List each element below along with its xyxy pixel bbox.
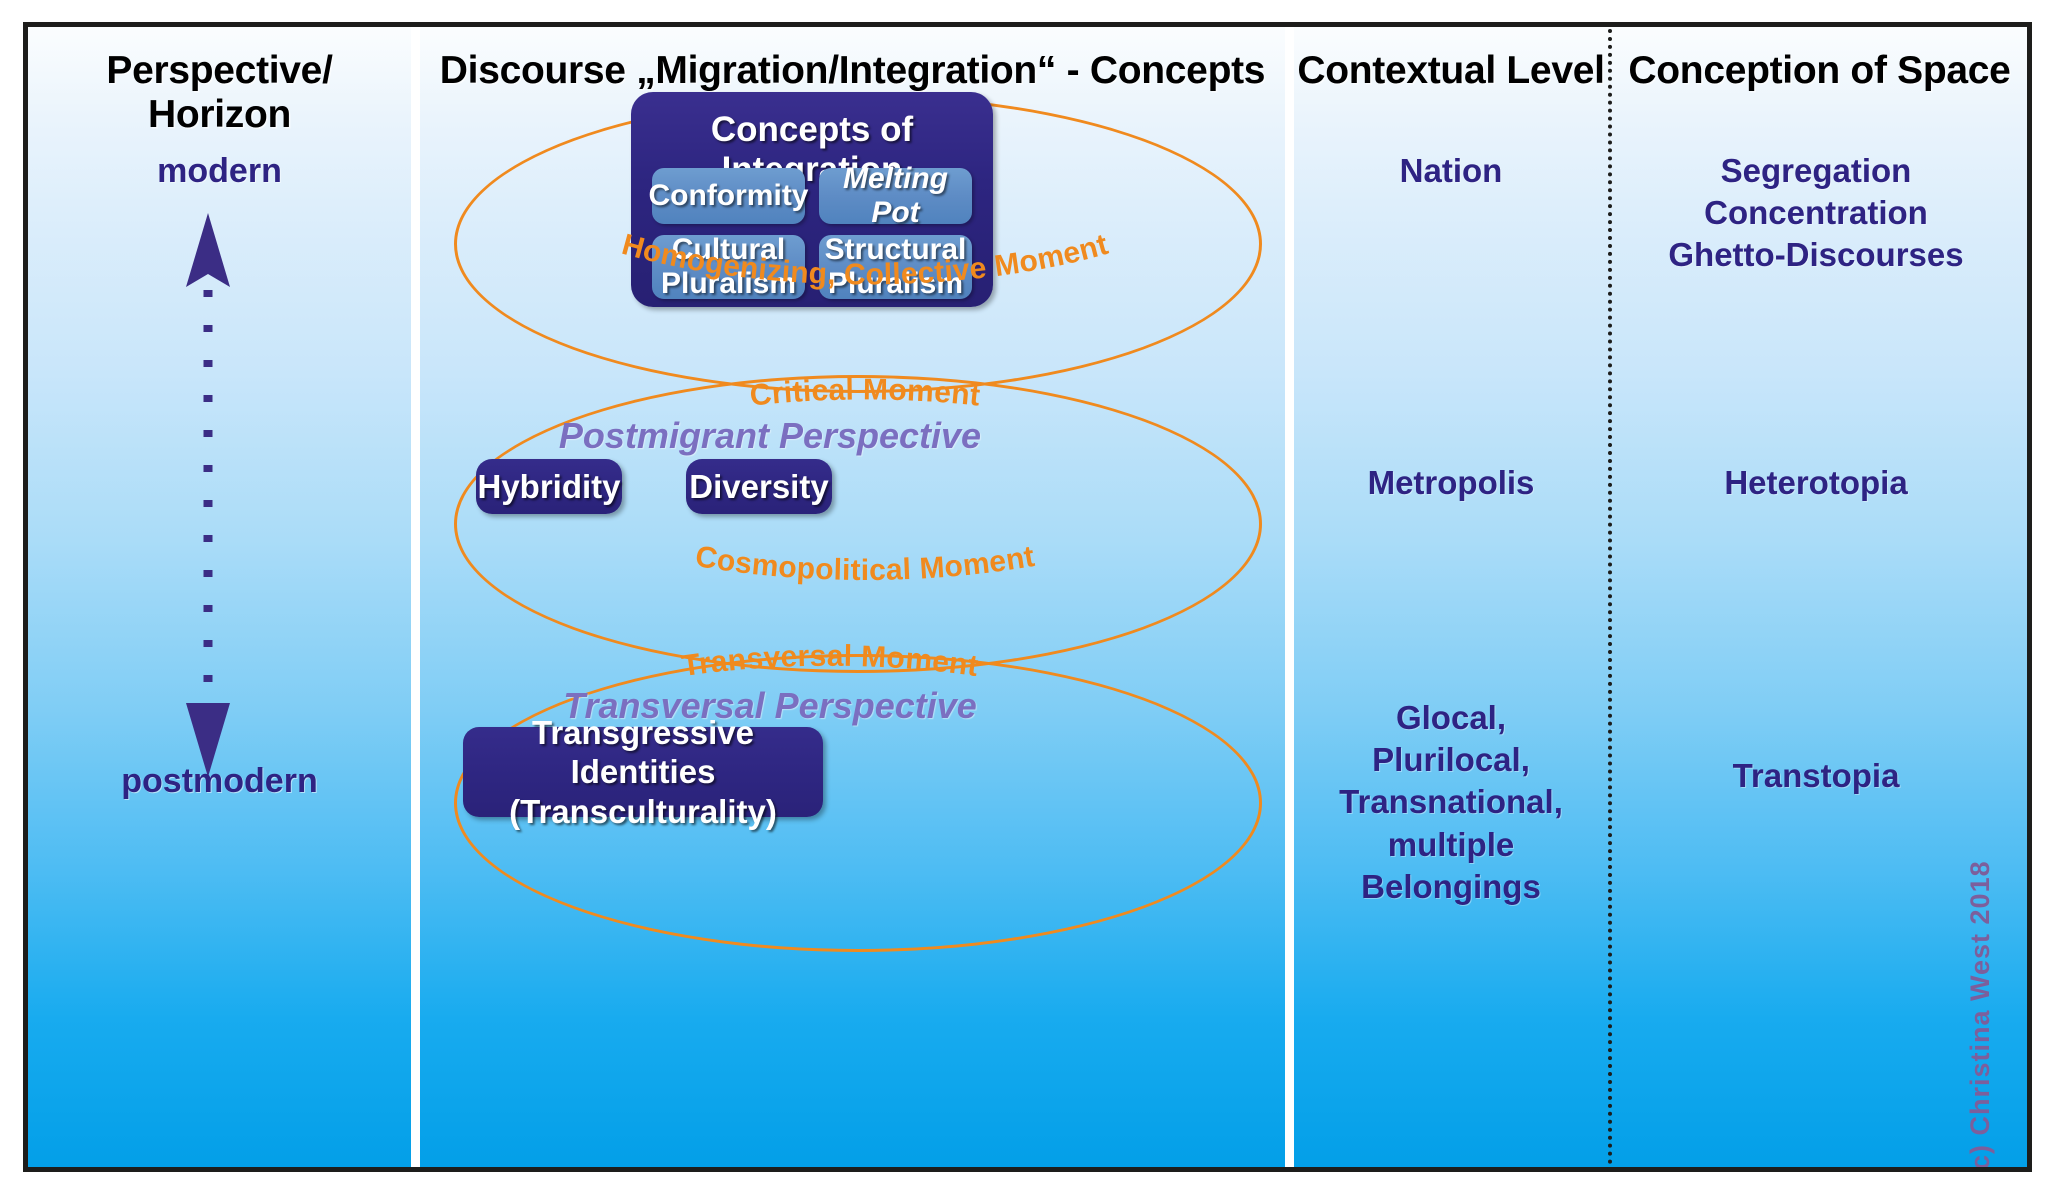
column-header-discourse: Discourse „Migration/Integration“ - Conc… bbox=[420, 49, 1285, 93]
concept-structural-pluralism-line-1: Structural bbox=[825, 233, 967, 267]
copyright-notice: (c) Christina West 2018 bbox=[1965, 860, 1996, 1172]
column-divider-2 bbox=[1285, 27, 1294, 1167]
contextual-level-glocal-line-4: multiple bbox=[1294, 824, 1608, 866]
pill-diversity: Diversity bbox=[686, 459, 832, 514]
concept-structural-pluralism-line-2: Pluralism bbox=[828, 267, 963, 301]
column-header-conception-of-space: Conception of Space bbox=[1612, 49, 2027, 93]
column-header-perspective-horizon: Perspective/ Horizon bbox=[28, 49, 411, 138]
concept-cultural-pluralism-line-2: Pluralism bbox=[661, 267, 796, 301]
concept-melting-pot: Melting Pot bbox=[819, 168, 972, 224]
contextual-level-value-glocal: Glocal, Plurilocal, Transnational, multi… bbox=[1294, 697, 1608, 908]
concept-cultural-pluralism: Cultural Pluralism bbox=[652, 235, 805, 299]
column-divider-1 bbox=[411, 27, 420, 1167]
concepts-of-integration-box: Concepts of Integration Conformity Melti… bbox=[631, 92, 993, 307]
conception-of-space-value-transtopia: Transtopia bbox=[1612, 755, 2020, 797]
arrow-up-head bbox=[186, 213, 230, 287]
conception-of-space-line-1: Segregation bbox=[1612, 150, 2020, 192]
column-header-line-2: Horizon bbox=[28, 93, 411, 137]
contextual-level-glocal-line-5: Belongings bbox=[1294, 866, 1608, 908]
column-header-contextual-level: Contextual Level bbox=[1294, 49, 1608, 93]
pill-hybridity: Hybridity bbox=[476, 459, 622, 514]
conception-of-space-line-2: Concentration bbox=[1612, 192, 2020, 234]
conception-of-space-value-heterotopia: Heterotopia bbox=[1612, 462, 2020, 504]
framed-panel: Perspective/ Horizon Discourse „Migratio… bbox=[23, 22, 2032, 1172]
conception-of-space-line-3: Ghetto-Discourses bbox=[1612, 234, 2020, 276]
contextual-level-value-nation: Nation bbox=[1294, 150, 1608, 192]
diagram-canvas: Perspective/ Horizon Discourse „Migratio… bbox=[0, 0, 2067, 1203]
concept-cultural-pluralism-line-1: Cultural bbox=[672, 233, 785, 267]
axis-label-modern: modern bbox=[28, 152, 411, 191]
axis-label-postmodern: postmodern bbox=[28, 762, 411, 801]
concept-conformity: Conformity bbox=[652, 168, 805, 224]
column-header-line-1: Perspective/ bbox=[28, 49, 411, 93]
pill-transgressive-line-2: (Transculturality) bbox=[509, 792, 777, 832]
contextual-level-glocal-line-2: Plurilocal, bbox=[1294, 739, 1608, 781]
postmigrant-perspective-label: Postmigrant Perspective bbox=[420, 415, 1120, 457]
contextual-level-glocal-line-1: Glocal, bbox=[1294, 697, 1608, 739]
pill-transgressive-line-1: Transgressive Identities bbox=[463, 713, 823, 792]
modern-postmodern-arrow bbox=[28, 27, 411, 1172]
concept-structural-pluralism: Structural Pluralism bbox=[819, 235, 972, 299]
pill-transgressive-identities: Transgressive Identities (Transculturali… bbox=[463, 727, 823, 817]
contextual-level-glocal-line-3: Transnational, bbox=[1294, 781, 1608, 823]
conception-of-space-value-segregation-group: Segregation Concentration Ghetto-Discour… bbox=[1612, 150, 2020, 277]
contextual-level-value-metropolis: Metropolis bbox=[1294, 462, 1608, 504]
